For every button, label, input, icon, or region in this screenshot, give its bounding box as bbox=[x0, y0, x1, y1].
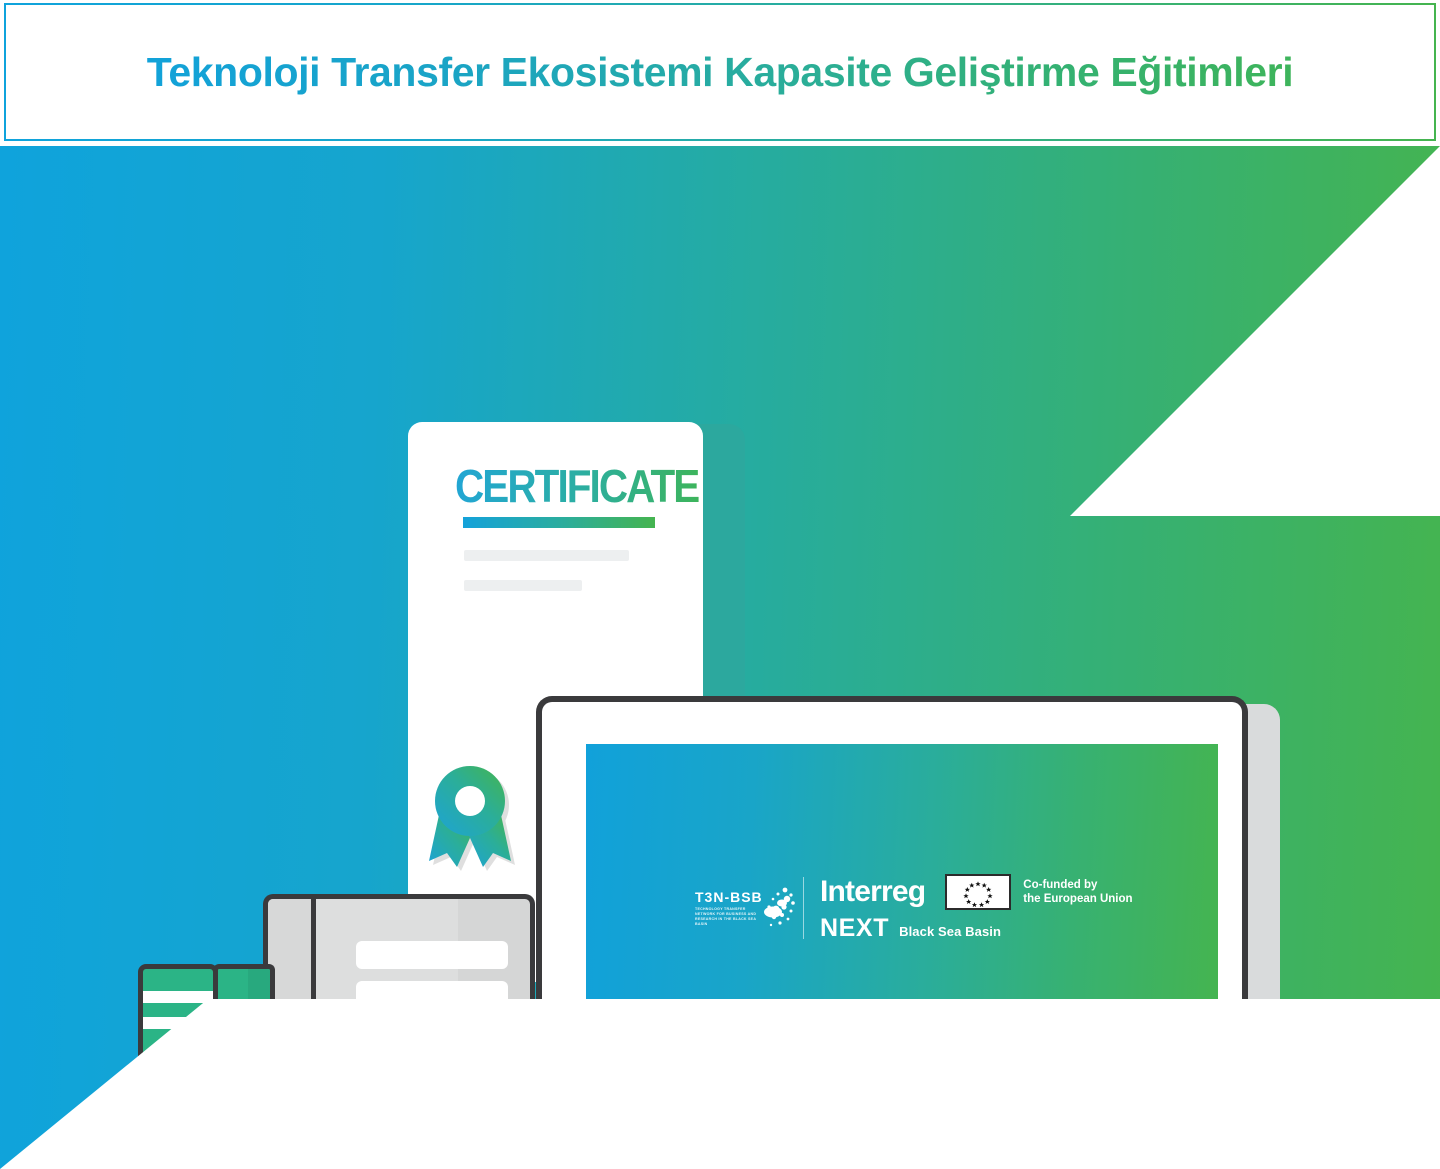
interreg-wordmark: Interreg bbox=[820, 877, 925, 907]
eu-flag-icon bbox=[945, 874, 1011, 910]
interreg-logo-lockup: T3N-BSB TECHNOLOGY TRANSFER NETWORK FOR … bbox=[693, 874, 1133, 941]
next-wordmark: NEXT bbox=[820, 916, 889, 941]
corner-cut-bottom-left bbox=[0, 999, 1440, 1169]
certificate-underline bbox=[463, 517, 655, 528]
book-stripe bbox=[143, 991, 213, 1003]
poster-root: Teknoloji Transfer Ekosistemi Kapasite G… bbox=[0, 0, 1440, 1169]
interreg-block: Interreg bbox=[820, 874, 1133, 941]
t3n-bsb-subtitle: TECHNOLOGY TRANSFER NETWORK FOR BUSINESS… bbox=[695, 907, 759, 928]
certificate-text-line bbox=[464, 550, 629, 561]
folder-label-bar bbox=[356, 941, 508, 969]
interreg-row: Interreg bbox=[820, 874, 1133, 910]
award-ribbon-icon bbox=[427, 763, 522, 873]
eu-funding-text: Co-funded by the European Union bbox=[1023, 878, 1132, 906]
network-dots-icon bbox=[751, 885, 795, 929]
certificate-title: CERTIFICATE bbox=[455, 459, 698, 513]
logo-divider bbox=[803, 877, 804, 939]
illustration-stage: CERTIFICATE bbox=[0, 146, 1440, 1169]
page-title: Teknoloji Transfer Ekosistemi Kapasite G… bbox=[147, 49, 1293, 96]
certificate-text-line bbox=[464, 580, 582, 591]
t3n-bsb-logo: T3N-BSB TECHNOLOGY TRANSFER NETWORK FOR … bbox=[693, 883, 793, 933]
next-row: NEXT Black Sea Basin bbox=[820, 916, 1133, 941]
eu-funding-line2: the European Union bbox=[1023, 892, 1132, 906]
eu-funding-line1: Co-funded by bbox=[1023, 878, 1132, 892]
title-banner: Teknoloji Transfer Ekosistemi Kapasite G… bbox=[4, 3, 1436, 141]
programme-name: Black Sea Basin bbox=[899, 924, 1001, 939]
